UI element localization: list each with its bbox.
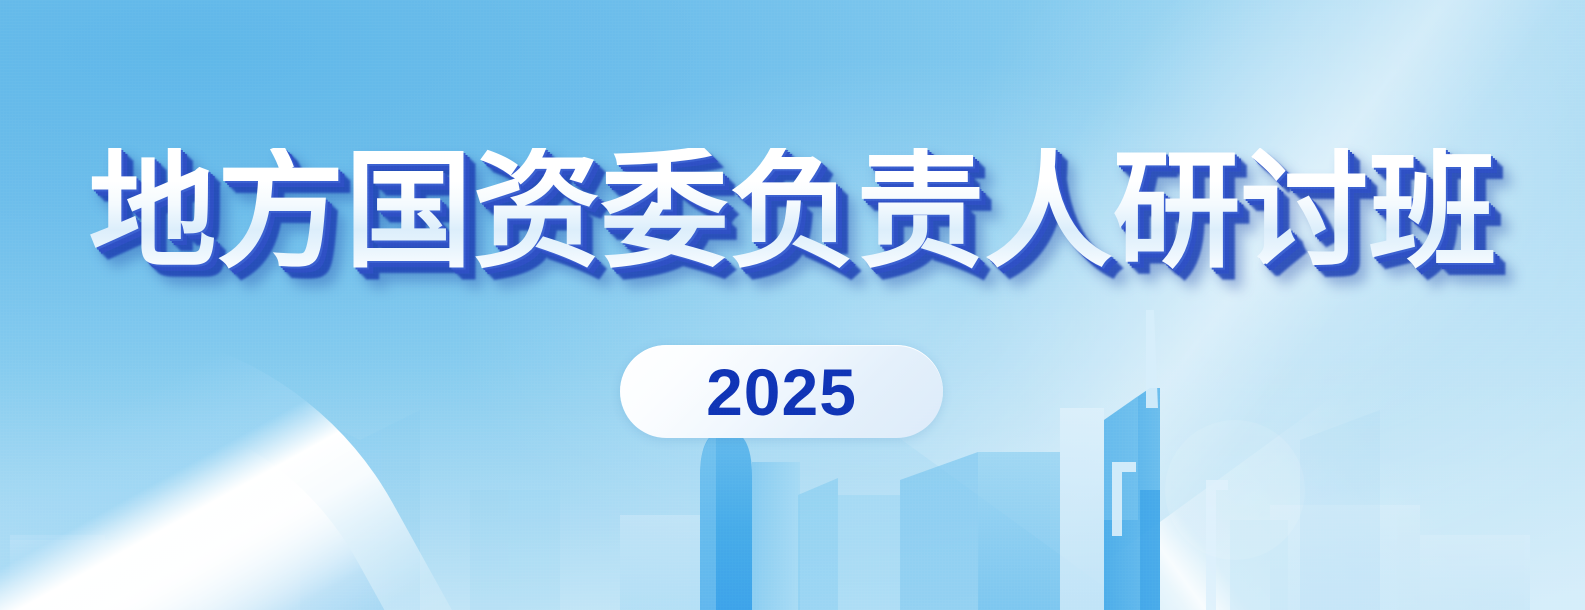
banner-root: 地方国资委负责人研讨班 2025 xyxy=(0,0,1585,610)
skyline-right-cluster xyxy=(900,310,1288,610)
skyline-mid-pale-layer xyxy=(10,515,702,610)
skyline-ghost-layer xyxy=(300,410,1380,610)
year-badge: 2025 xyxy=(620,345,943,438)
title-container: 地方国资委负责人研讨班 xyxy=(0,148,1585,276)
banner-title: 地方国资委负责人研讨班 xyxy=(88,148,1496,276)
city-skyline xyxy=(0,290,1585,610)
bottom-right-light-streak xyxy=(925,387,1585,610)
skyline-highlight-bokeh xyxy=(1165,420,1305,560)
top-right-light-streak xyxy=(868,0,1585,610)
bottom-left-swoosh xyxy=(0,206,499,610)
skyline-far-layer xyxy=(10,505,1530,610)
year-badge-label: 2025 xyxy=(706,359,857,425)
center-glow xyxy=(459,61,1359,581)
bottom-left-swoosh-inner xyxy=(0,298,463,610)
skyline-center-cluster xyxy=(700,430,900,610)
texture-overlay xyxy=(0,0,1585,610)
top-right-glow xyxy=(945,0,1585,580)
